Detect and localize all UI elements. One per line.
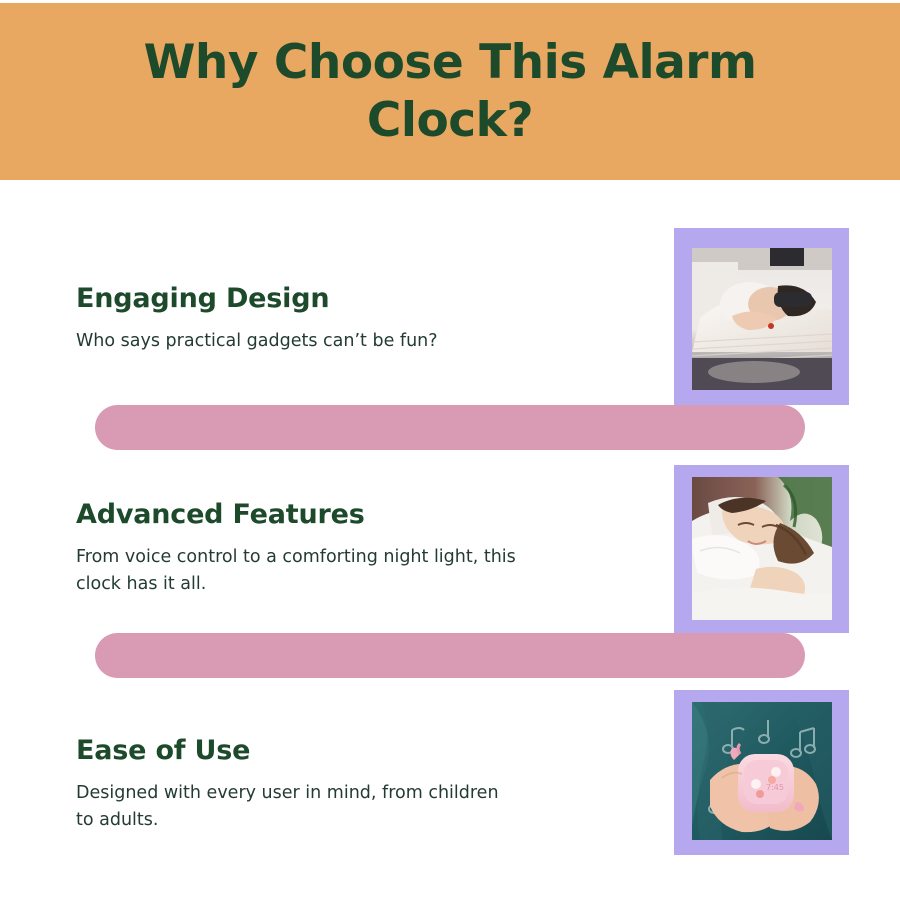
header-band: Why Choose This Alarm Clock? (0, 3, 900, 180)
svg-text:7:45: 7:45 (766, 783, 784, 792)
section-text-block-2: Advanced Features From voice control to … (76, 499, 516, 598)
photo-frame-2 (674, 465, 849, 633)
section-body-2: From voice control to a comforting night… (76, 544, 516, 598)
pink-divider-bar-1 (95, 405, 805, 450)
section-heading-1: Engaging Design (76, 283, 438, 314)
section-text-block-3: Ease of Use Designed with every user in … (76, 735, 499, 834)
section-body-3: Designed with every user in mind, from c… (76, 780, 499, 834)
photo-woman-sleeping-pillow (692, 477, 832, 620)
photo-hands-holding-alarm-clock: 7:45 (692, 702, 832, 840)
section-heading-3: Ease of Use (76, 735, 499, 766)
page-title: Why Choose This Alarm Clock? (90, 34, 810, 149)
pink-divider-bar-2 (95, 633, 805, 678)
section-text-block-1: Engaging Design Who says practical gadge… (76, 283, 438, 355)
infographic-canvas: Why Choose This Alarm Clock? Engaging De… (0, 0, 900, 923)
photo-frame-1 (674, 228, 849, 405)
photo-frame-3: 7:45 (674, 690, 849, 855)
section-heading-2: Advanced Features (76, 499, 516, 530)
section-body-1: Who says practical gadgets can’t be fun? (76, 328, 438, 355)
photo-woman-sleeping-eye-mask (692, 248, 832, 390)
